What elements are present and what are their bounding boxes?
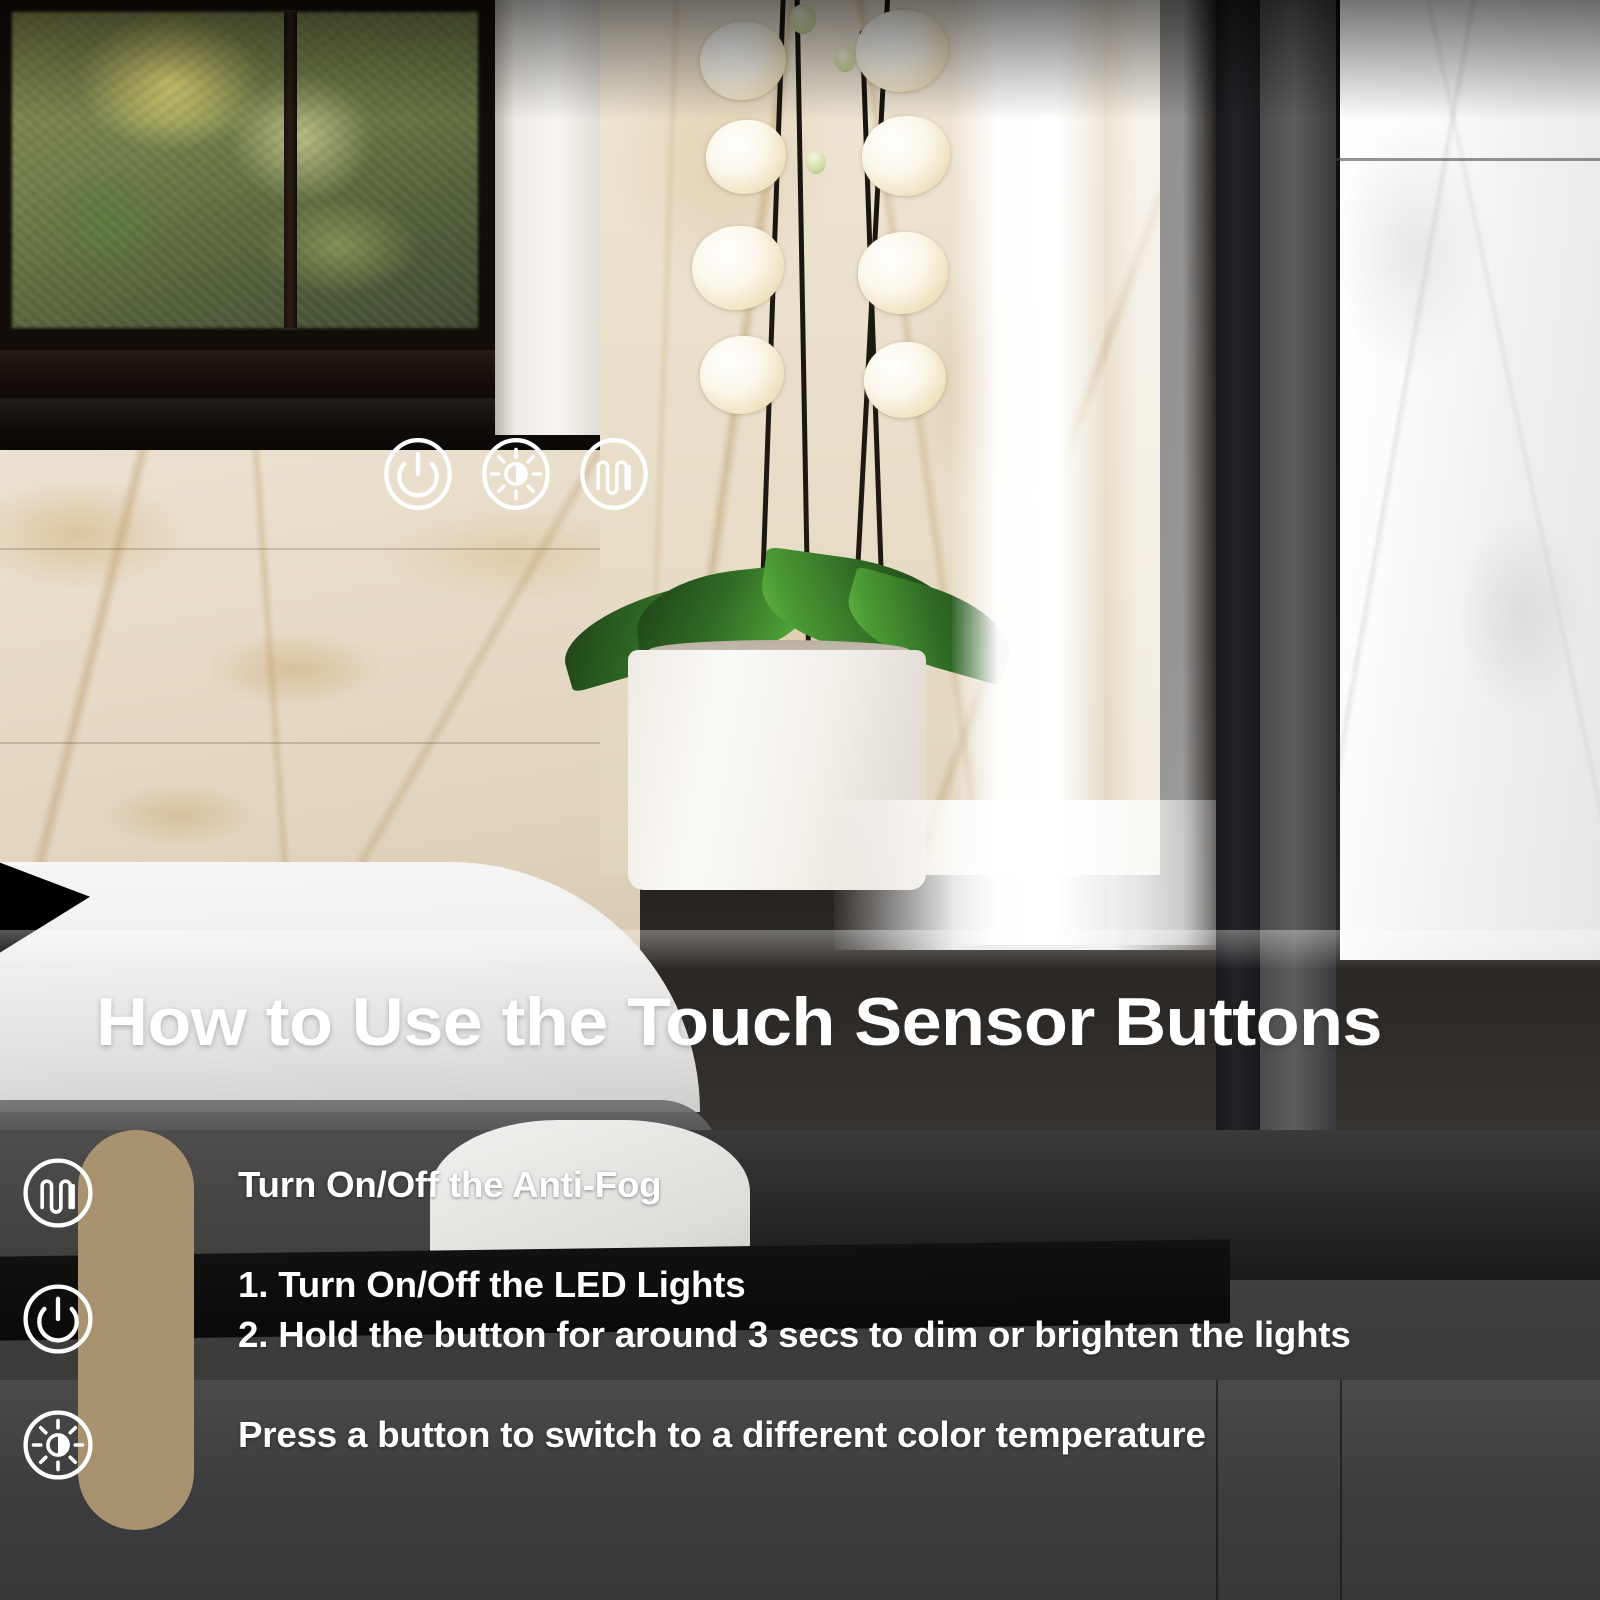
led-lights-description-line-1: 1. Turn On/Off the LED Lights xyxy=(238,1262,745,1308)
page-title: How to Use the Touch Sensor Buttons xyxy=(96,985,1600,1059)
tile-seam xyxy=(0,548,640,550)
icon-legend-pill xyxy=(78,1130,194,1530)
color-temperature-description: Press a button to switch to a different … xyxy=(238,1412,1206,1458)
mirror-frame-edge xyxy=(1260,0,1336,1300)
white-wall-pillar xyxy=(495,0,605,435)
floor-seam xyxy=(1340,1380,1342,1600)
floor-seam xyxy=(1216,1380,1218,1600)
power-icon[interactable] xyxy=(382,438,454,510)
light-reflection-panel xyxy=(834,800,1234,950)
anti-fog-description: Turn On/Off the Anti-Fog xyxy=(238,1162,661,1208)
orchid-bud xyxy=(834,46,856,72)
mirror-frame-bar xyxy=(1216,0,1260,1300)
marble-wall-right xyxy=(1340,0,1600,960)
orchid-bud xyxy=(790,4,816,34)
bathroom-scene-photo xyxy=(0,0,1600,1600)
anti-fog-icon[interactable] xyxy=(578,438,650,510)
touch-sensor-button-row xyxy=(382,438,650,510)
brightness-color-temperature-icon[interactable] xyxy=(480,438,552,510)
power-icon[interactable] xyxy=(22,1283,94,1355)
window-mullion xyxy=(284,12,297,328)
infographic-canvas: How to Use the Touch Sensor Buttons Turn… xyxy=(0,0,1600,1600)
glass-sheen xyxy=(0,930,1600,970)
window-frame xyxy=(0,0,500,350)
led-lights-description-line-2: 2. Hold the button for around 3 secs to … xyxy=(238,1312,1351,1358)
tile-seam xyxy=(0,742,640,744)
window-glass-foliage xyxy=(12,12,478,328)
marble-seam xyxy=(1332,158,1600,161)
brightness-color-temperature-icon[interactable] xyxy=(22,1409,94,1481)
anti-fog-icon[interactable] xyxy=(22,1157,94,1229)
orchid-bud xyxy=(806,150,826,174)
